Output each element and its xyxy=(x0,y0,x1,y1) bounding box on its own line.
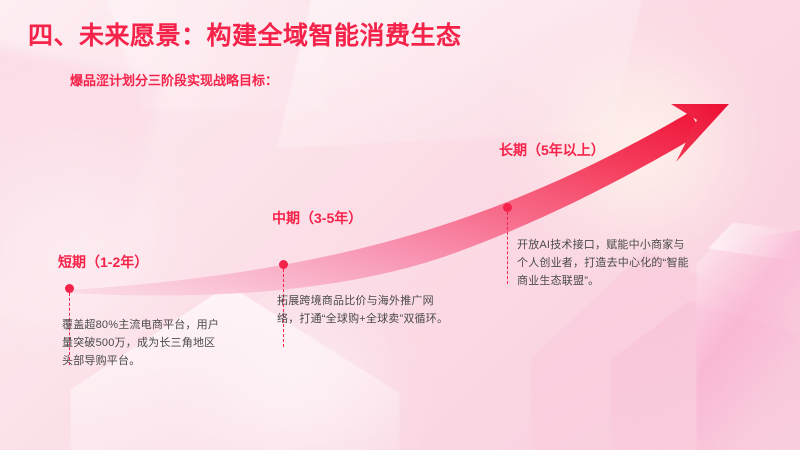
page-title: 四、未来愿景：构建全域智能消费生态 xyxy=(28,16,462,52)
growth-arrow-graphic xyxy=(0,0,800,450)
stage-label-mid-term: 中期（3-5年） xyxy=(272,208,362,228)
stage-label-long-term: 长期（5年以上） xyxy=(499,140,605,160)
stage-dot-long-term[interactable] xyxy=(503,203,512,212)
cube-shape-right xyxy=(696,228,800,450)
background-decoration-layer xyxy=(0,0,800,450)
stage-label-short-term: 短期（1-2年） xyxy=(58,252,148,272)
slide-canvas: 四、未来愿景：构建全域智能消费生态 爆品涩计划分三阶段实现战略目标： 短期（1-… xyxy=(0,0,800,450)
stage-dot-mid-term[interactable] xyxy=(279,260,288,269)
stage-description-long-term: 开放AI技术接口，赋能中小商家与个人创业者，打造去中心化的“智能商业生态联盟”。 xyxy=(517,236,695,290)
polygon-slab-bottom-right xyxy=(610,300,800,450)
stage-connector-long-term xyxy=(507,212,508,284)
arrow-head xyxy=(671,104,729,162)
cube-top-face-right xyxy=(708,222,800,280)
page-subtitle: 爆品涩计划分三阶段实现战略目标： xyxy=(70,70,278,89)
stage-description-mid-term: 拓展跨境商品比价与海外推广网络，打通“全球购+全球卖”双循环。 xyxy=(277,292,449,328)
stage-dot-short-term[interactable] xyxy=(65,284,74,293)
stage-description-short-term: 覆盖超80%主流电商平台，用户量突破500万，成为长三角地区头部导购平台。 xyxy=(62,316,222,370)
